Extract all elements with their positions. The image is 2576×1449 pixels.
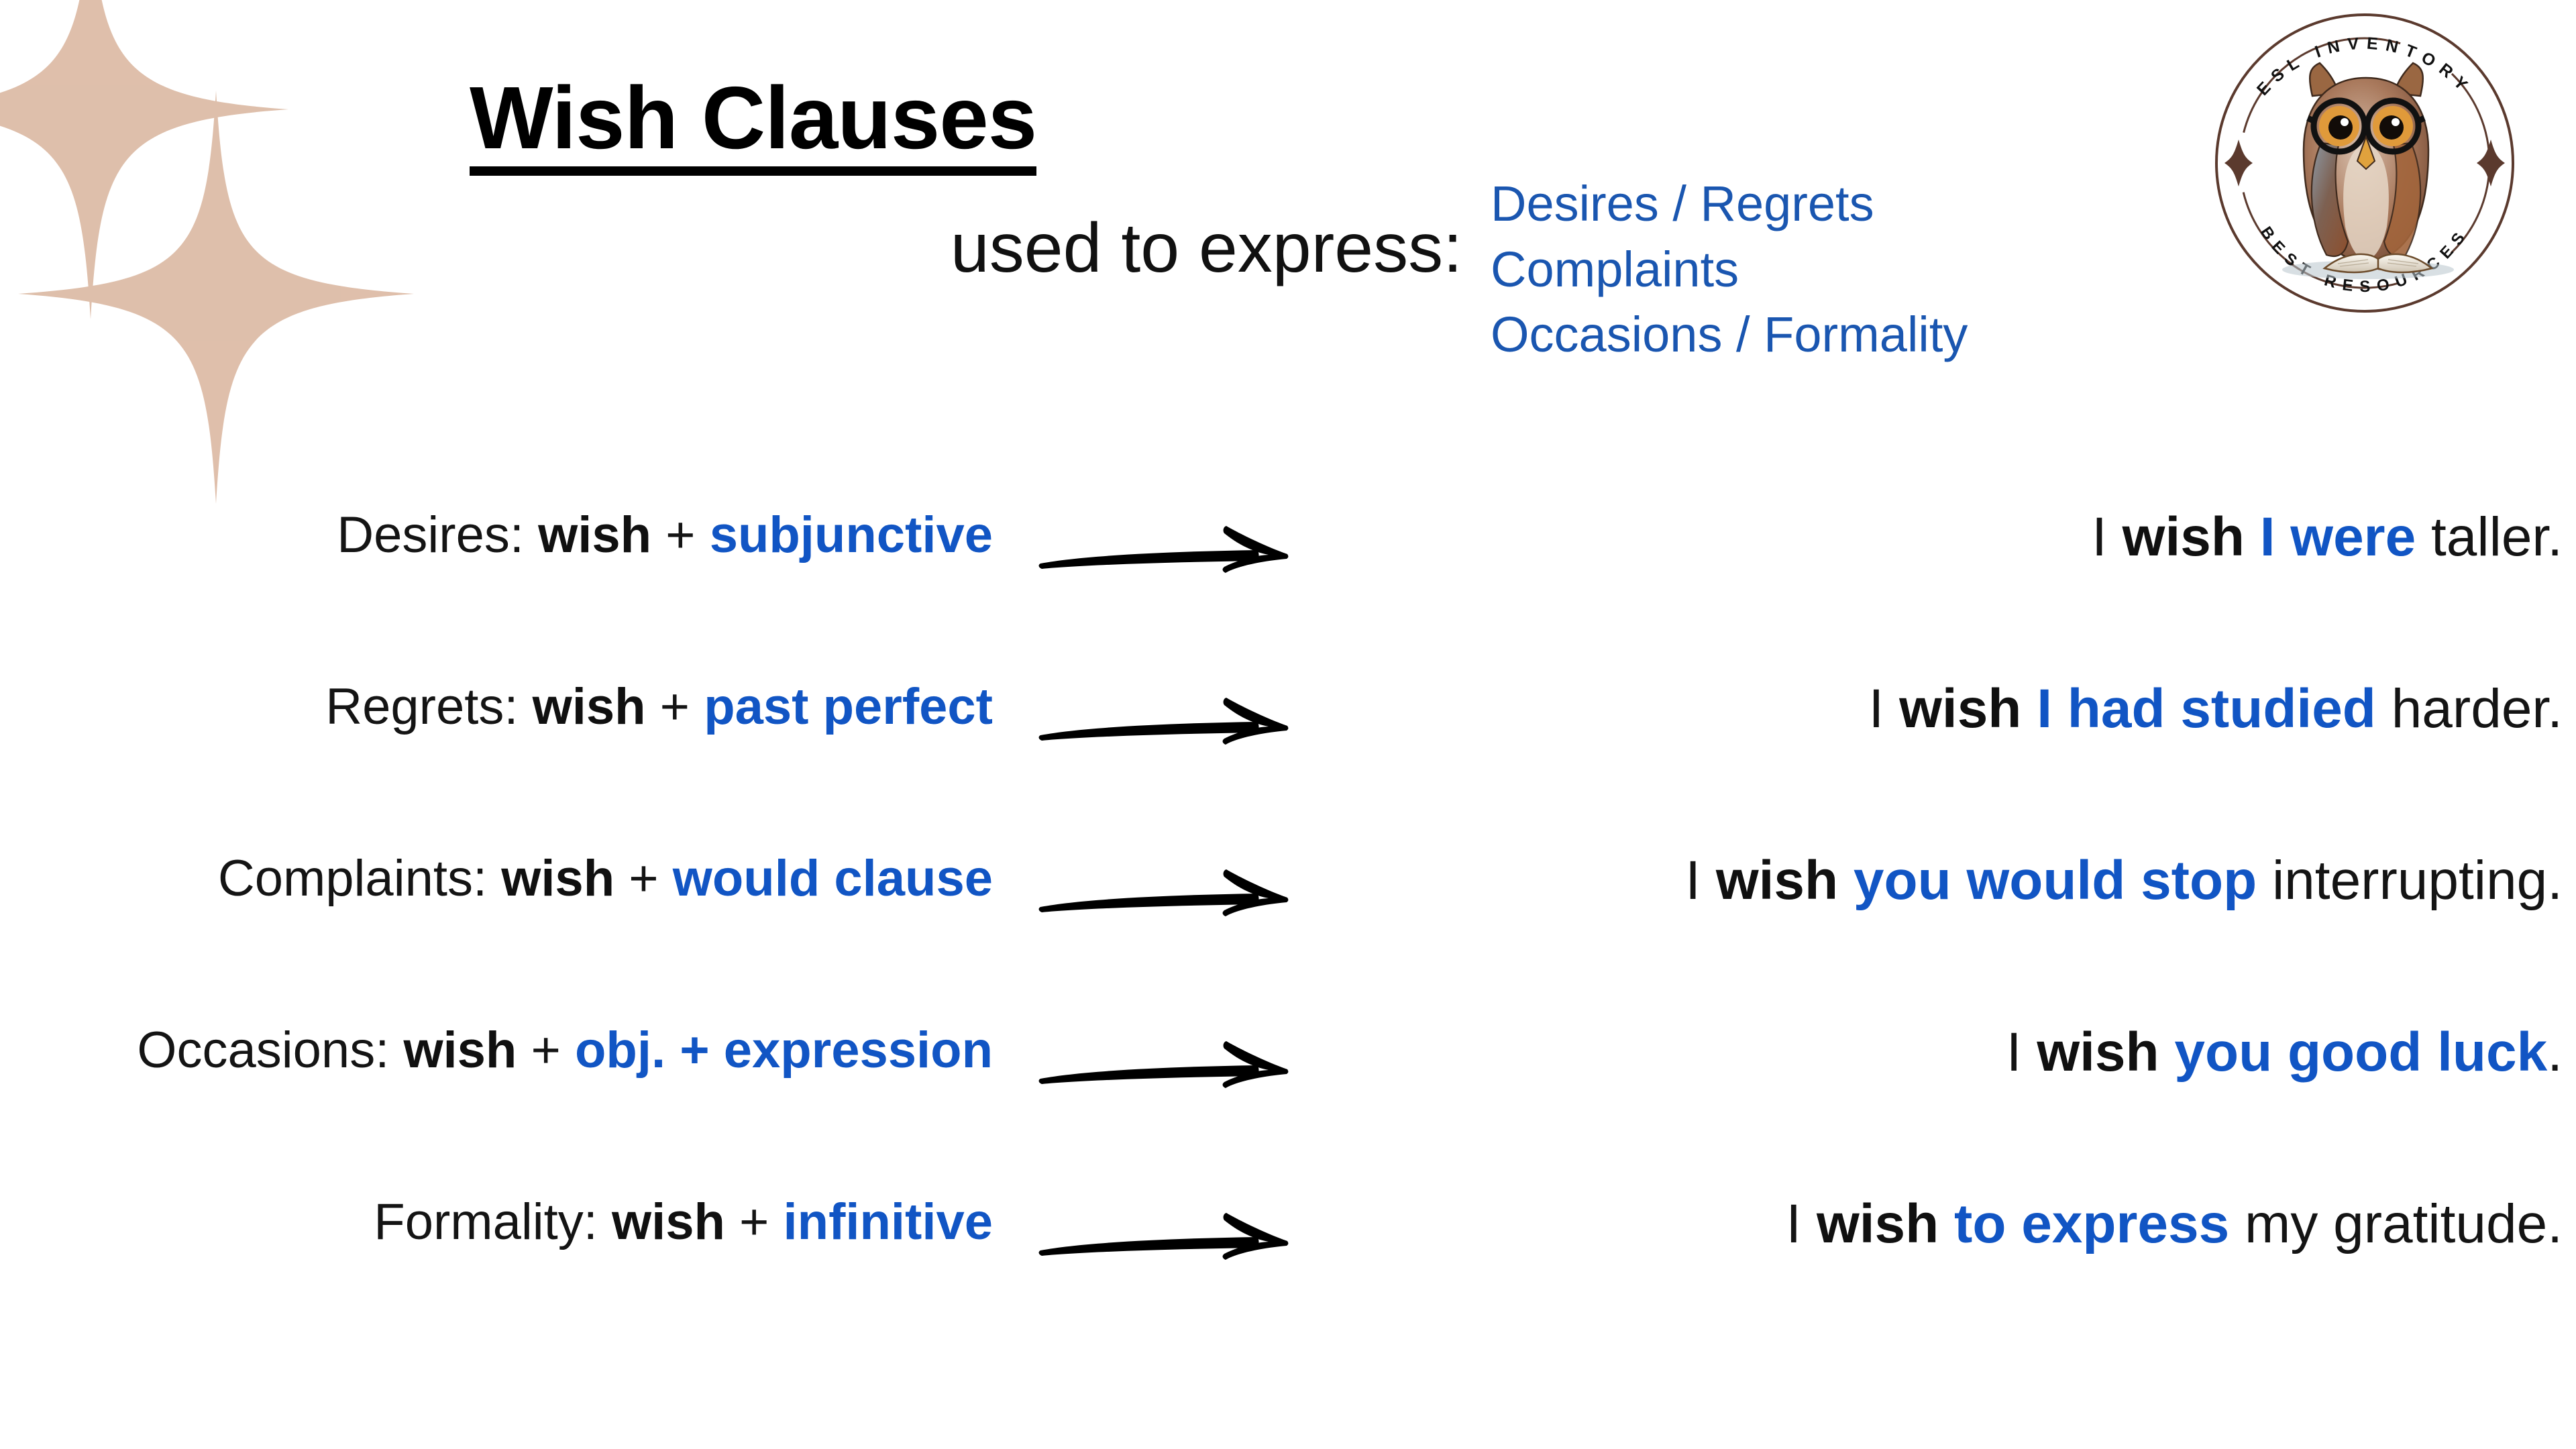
express-item-occasions-formality: Occasions / Formality (1491, 302, 1968, 368)
example-post: interrupting. (2272, 850, 2563, 911)
owl-mascot-icon (2304, 63, 2428, 270)
row-label: Complaints: (218, 850, 487, 907)
express-item-complaints: Complaints (1491, 237, 1968, 303)
arrow-right-icon (1036, 1201, 1305, 1275)
row-plus: + (629, 850, 658, 907)
row-right-desires: I wish I were taller. (1315, 510, 2576, 565)
row-plus: + (531, 1022, 560, 1079)
arrow-right-icon (1036, 857, 1305, 931)
row-right-complaints: I wish you would stop interrupting. (1315, 853, 2576, 908)
row-structure: obj. + expression (575, 1022, 993, 1079)
subtitle: used to express: (470, 213, 1469, 283)
example-post: my gratitude. (2245, 1193, 2563, 1254)
row-label: Formality: (374, 1193, 598, 1250)
row-left-complaints: Complaints: wish + would clause (0, 853, 993, 904)
row-label: Regrets: (325, 678, 518, 735)
brand-logo: ESL INVENTORY BEST RESOURCES (2207, 5, 2522, 321)
example-pre: I (1786, 1193, 1801, 1254)
row-right-regrets: I wish I had studied harder. (1315, 682, 2576, 737)
example-keyword: wish (2037, 1022, 2159, 1083)
row-structure: subjunctive (710, 506, 993, 563)
example-highlight: I had studied (2037, 678, 2376, 739)
example-highlight: to express (1954, 1193, 2229, 1254)
row-plus: + (665, 506, 695, 563)
row-desires: Desires: wish + subjunctive I wish I wer… (0, 510, 2576, 682)
row-formality: Formality: wish + infinitive I wish to e… (0, 1197, 2576, 1368)
arrow-right-icon (1036, 686, 1305, 759)
row-label: Occasions: (137, 1022, 389, 1079)
example-keyword: wish (1716, 850, 1838, 911)
row-structure: infinitive (784, 1193, 993, 1250)
example-post: . (2547, 1022, 2563, 1083)
row-left-regrets: Regrets: wish + past perfect (0, 682, 993, 733)
row-plus: + (739, 1193, 769, 1250)
row-left-occasions: Occasions: wish + obj. + expression (0, 1025, 993, 1076)
example-pre: I (2006, 1022, 2022, 1083)
example-post: harder. (2392, 678, 2563, 739)
row-keyword: wish (538, 506, 651, 563)
row-right-formality: I wish to express my gratitude. (1315, 1197, 2576, 1252)
arrow-right-icon (1036, 1029, 1305, 1103)
header: Wish Clauses used to express: Desires / … (0, 0, 2576, 416)
row-keyword: wish (501, 850, 614, 907)
row-keyword: wish (612, 1193, 725, 1250)
example-post: taller. (2431, 506, 2563, 568)
rows-container: Desires: wish + subjunctive I wish I wer… (0, 510, 2576, 1368)
example-highlight: I were (2260, 506, 2416, 568)
example-highlight: you good luck (2174, 1022, 2547, 1083)
row-complaints: Complaints: wish + would clause I wish y… (0, 853, 2576, 1025)
example-keyword: wish (1817, 1193, 1939, 1254)
row-occasions: Occasions: wish + obj. + expression I wi… (0, 1025, 2576, 1197)
row-keyword: wish (533, 678, 646, 735)
row-structure: would clause (673, 850, 993, 907)
title-block: Wish Clauses used to express: (470, 74, 1476, 283)
row-left-desires: Desires: wish + subjunctive (0, 510, 993, 561)
row-right-occasions: I wish you good luck. (1315, 1025, 2576, 1080)
example-keyword: wish (1899, 678, 2021, 739)
example-pre: I (1685, 850, 1701, 911)
arrow-right-icon (1036, 514, 1305, 588)
row-regrets: Regrets: wish + past perfect I wish I ha… (0, 682, 2576, 853)
example-pre: I (2092, 506, 2107, 568)
example-highlight: you would stop (1854, 850, 2257, 911)
row-left-formality: Formality: wish + infinitive (0, 1197, 993, 1248)
express-list: Desires / Regrets Complaints Occasions /… (1491, 171, 1968, 368)
example-pre: I (1869, 678, 1884, 739)
example-keyword: wish (2123, 506, 2245, 568)
row-label: Desires: (337, 506, 524, 563)
row-plus: + (660, 678, 690, 735)
row-keyword: wish (403, 1022, 517, 1079)
page-title: Wish Clauses (470, 74, 1036, 176)
row-structure: past perfect (704, 678, 993, 735)
express-item-desires-regrets: Desires / Regrets (1491, 171, 1968, 237)
